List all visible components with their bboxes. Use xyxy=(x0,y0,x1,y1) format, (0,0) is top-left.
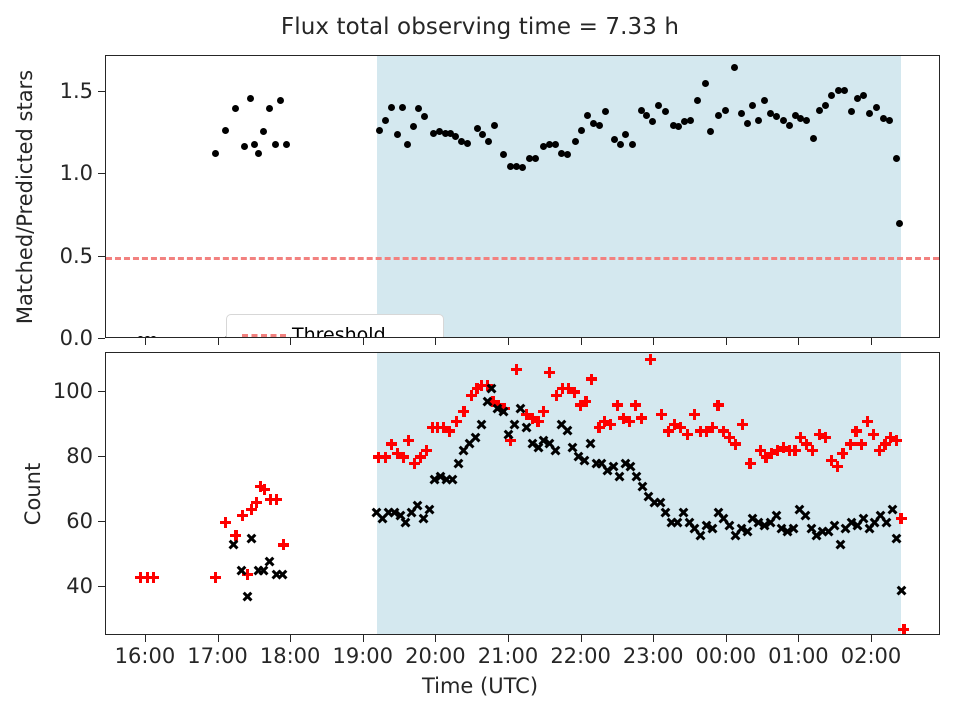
y-axis-label-counts-text: Count xyxy=(21,462,45,524)
figure-title: Flux total observing time = 7.33 h xyxy=(0,14,960,40)
data-point xyxy=(687,117,694,124)
y-tick-label: 1.0 xyxy=(60,161,93,185)
y-axis-label-ratio-text: Matched/Predicted stars xyxy=(13,69,37,323)
data-point xyxy=(491,122,498,129)
x-tick xyxy=(508,635,509,642)
x-tick xyxy=(145,635,146,642)
data-point xyxy=(722,107,729,114)
x-tick-label: 21:00 xyxy=(478,644,539,668)
data-point xyxy=(655,102,662,109)
data-point xyxy=(564,151,571,158)
x-tick xyxy=(435,635,436,642)
y-tick-label: 0.0 xyxy=(60,326,93,350)
y-tick xyxy=(98,91,105,92)
y-tick-label: 80 xyxy=(66,444,93,468)
data-point xyxy=(388,104,395,111)
data-point xyxy=(828,92,835,99)
x-tick xyxy=(871,635,872,642)
y-tick-label: 0.5 xyxy=(60,244,93,268)
x-tick xyxy=(653,338,654,345)
y-tick xyxy=(98,586,105,587)
data-point xyxy=(761,97,768,104)
data-point xyxy=(860,92,867,99)
x-tick xyxy=(363,338,364,345)
data-point xyxy=(272,141,279,148)
data-point xyxy=(421,113,428,120)
x-tick-label: 02:00 xyxy=(841,644,902,668)
x-tick-label: 00:00 xyxy=(696,644,757,668)
data-point xyxy=(260,128,267,135)
observing-window-shade-top xyxy=(377,56,901,337)
x-tick xyxy=(726,338,727,345)
y-tick xyxy=(98,173,105,174)
data-point xyxy=(803,117,810,124)
y-tick-label: 40 xyxy=(66,574,93,598)
x-tick-label: 22:00 xyxy=(550,644,611,668)
data-point xyxy=(464,140,471,147)
legend-entry-threshold[interactable]: Threshold xyxy=(236,322,432,338)
y-axis-label-ratio: Matched/Predicted stars xyxy=(12,55,38,338)
data-point xyxy=(247,95,254,102)
data-point xyxy=(822,102,829,109)
data-point xyxy=(715,112,722,119)
x-tick-label: 20:00 xyxy=(405,644,466,668)
x-tick xyxy=(726,635,727,642)
y-axis-label-counts: Count xyxy=(20,352,46,635)
x-axis-label: Time (UTC) xyxy=(0,674,960,698)
data-point xyxy=(578,127,585,134)
data-point xyxy=(251,141,258,148)
data-point xyxy=(896,220,903,227)
data-point xyxy=(786,122,793,129)
legend-ratio: Threshold Measurements xyxy=(226,314,444,338)
data-point xyxy=(500,151,507,158)
data-point xyxy=(532,155,539,162)
y-tick-label: 1.5 xyxy=(60,79,93,103)
data-point xyxy=(738,110,745,117)
x-tick-label: 17:00 xyxy=(187,644,248,668)
x-tick xyxy=(508,338,509,345)
y-tick xyxy=(98,338,105,339)
data-point xyxy=(584,112,591,119)
data-point xyxy=(866,110,873,117)
data-point xyxy=(731,64,738,71)
data-point xyxy=(283,141,290,148)
x-tick xyxy=(290,338,291,345)
data-point xyxy=(519,164,526,171)
x-axis-ticks: 16:0017:0018:0019:0020:0021:0022:0023:00… xyxy=(105,635,940,675)
x-tick xyxy=(798,338,799,345)
data-point xyxy=(873,104,880,111)
x-tick xyxy=(581,338,582,345)
data-point xyxy=(617,141,624,148)
data-point xyxy=(382,117,389,124)
y-tick xyxy=(98,521,105,522)
x-tick xyxy=(363,635,364,642)
x-tick xyxy=(290,635,291,642)
x-tick xyxy=(653,635,654,642)
y-tick xyxy=(98,456,105,457)
data-point xyxy=(886,117,893,124)
x-axis-ticks-ratio xyxy=(105,338,940,346)
x-tick-label: 19:00 xyxy=(332,644,393,668)
data-point xyxy=(277,97,284,104)
data-point xyxy=(266,105,273,112)
panel-counts: Matched stars Predicted stars xyxy=(105,352,940,635)
y-tick-label: 100 xyxy=(53,379,93,403)
data-point xyxy=(596,122,603,129)
legend-label-threshold: Threshold xyxy=(292,323,386,338)
figure: Flux total observing time = 7.33 h Thres… xyxy=(0,0,960,720)
data-point xyxy=(222,127,229,134)
x-tick xyxy=(218,338,219,345)
data-point xyxy=(241,143,248,150)
data-point xyxy=(744,120,751,127)
data-point xyxy=(415,105,422,112)
y-tick xyxy=(98,391,105,392)
x-tick xyxy=(435,338,436,345)
y-tick-label: 60 xyxy=(66,509,93,533)
x-tick-label: 18:00 xyxy=(260,644,321,668)
data-point xyxy=(212,150,219,157)
x-tick-label: 23:00 xyxy=(623,644,684,668)
data-point xyxy=(399,104,406,111)
x-tick xyxy=(145,338,146,345)
x-tick xyxy=(218,635,219,642)
data-point xyxy=(376,127,383,134)
x-tick xyxy=(581,635,582,642)
observing-window-shade-bottom xyxy=(377,353,901,634)
data-point xyxy=(893,155,900,162)
threshold-line xyxy=(106,257,939,260)
x-tick xyxy=(798,635,799,642)
panel-ratio: Threshold Measurements xyxy=(105,55,940,338)
data-point xyxy=(755,117,762,124)
data-point xyxy=(255,150,262,157)
data-point xyxy=(410,123,417,130)
x-tick-label: 16:00 xyxy=(115,644,176,668)
x-tick-label: 01:00 xyxy=(768,644,829,668)
data-point xyxy=(841,87,848,94)
x-tick xyxy=(871,338,872,345)
data-point xyxy=(232,105,239,112)
y-tick xyxy=(98,256,105,257)
dashed-line-icon xyxy=(236,322,292,338)
